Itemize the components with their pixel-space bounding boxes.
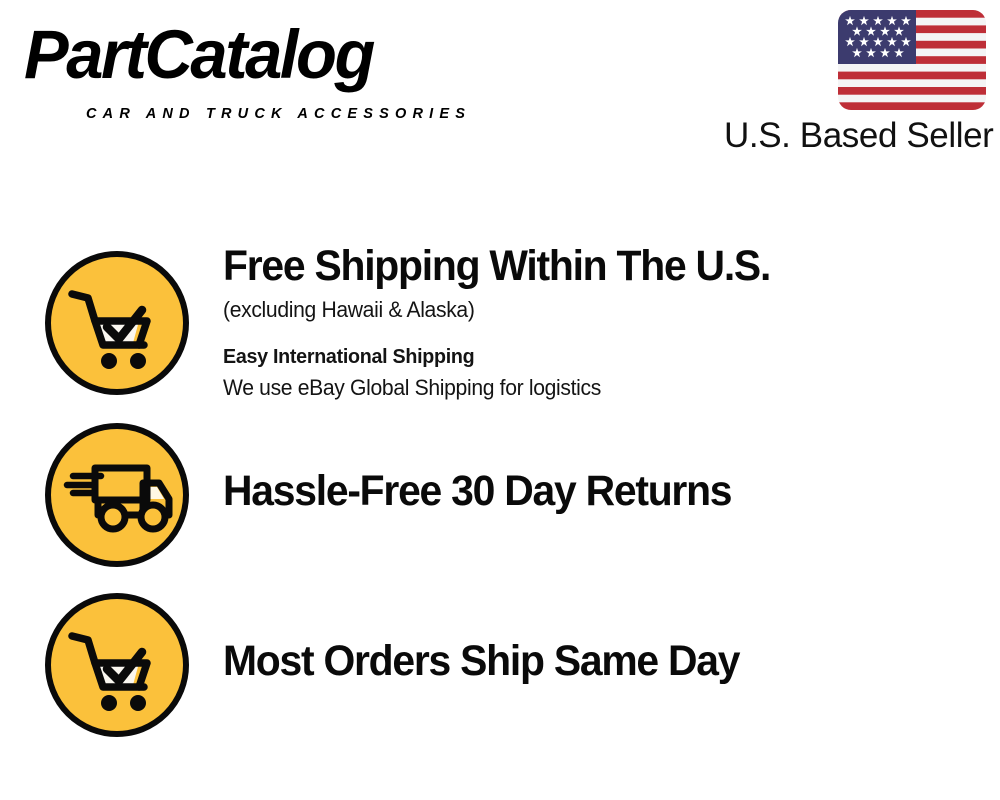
benefit-row-free-shipping: Free Shipping Within The U.S. (excluding… (0, 248, 1000, 398)
us-based-seller-label: U.S. Based Seller (724, 115, 986, 157)
cart-check-icon-svg (43, 249, 191, 397)
benefit-row-returns: Hassle-Free 30 Day Returns (0, 420, 1000, 570)
us-flag-icon (838, 10, 986, 110)
benefit-headline: Hassle-Free 30 Day Returns (223, 467, 945, 515)
brand-tagline: CAR AND TRUCK ACCESSORIES (86, 106, 471, 122)
benefit-headline: Free Shipping Within The U.S. (223, 242, 945, 290)
benefit-exclusion-note: (excluding Hawaii & Alaska) (223, 295, 953, 325)
brand-logo[interactable]: PartCatalog CAR AND TRUCK ACCESSORIES (24, 18, 494, 118)
benefit-international-desc: We use eBay Global Shipping for logistic… (223, 373, 953, 403)
benefit-text-free-shipping: Free Shipping Within The U.S. (excluding… (223, 248, 983, 403)
benefit-text-returns: Hassle-Free 30 Day Returns (223, 467, 983, 515)
benefit-text-same-day: Most Orders Ship Same Day (223, 637, 983, 685)
cart-check-icon-svg (43, 591, 191, 739)
delivery-truck-icon (43, 421, 191, 569)
cart-check-icon (43, 249, 191, 397)
delivery-truck-icon-svg (43, 421, 191, 569)
benefit-headline: Most Orders Ship Same Day (223, 637, 945, 685)
brand-wordmark: PartCatalog (24, 18, 373, 92)
us-flag-svg (838, 10, 986, 110)
benefit-international-title: Easy International Shipping (223, 342, 953, 372)
cart-check-icon (43, 591, 191, 739)
benefit-row-same-day-shipping: Most Orders Ship Same Day (0, 590, 1000, 740)
